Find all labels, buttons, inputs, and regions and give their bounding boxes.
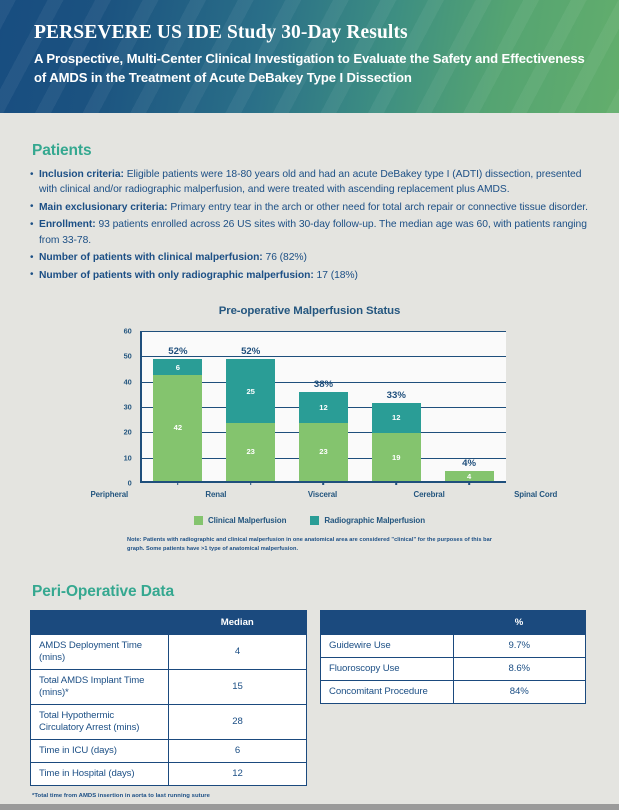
x-axis-label: Renal: [163, 490, 270, 499]
bar-segment-clinical: 4: [445, 471, 494, 481]
patients-bullet-item: Number of patients with clinical malperf…: [30, 250, 589, 265]
table-cell-label: AMDS Deployment Time (mins): [31, 634, 169, 669]
x-axis-label: Spinal Cord: [482, 490, 589, 499]
table-row: AMDS Deployment Time (mins)4: [31, 634, 307, 669]
peri-operative-median-table: Median AMDS Deployment Time (mins)4Total…: [30, 610, 307, 786]
bar-stack[interactable]: 4%4: [445, 471, 494, 481]
page-subtitle: A Prospective, Multi-Center Clinical Inv…: [34, 50, 587, 87]
table-header-median: Median: [169, 610, 307, 634]
table-row: Fluoroscopy Use8.6%: [321, 657, 586, 680]
page-title: PERSEVERE US IDE Study 30-Day Results: [34, 22, 587, 43]
bar-segment-radiographic: 12: [372, 403, 421, 433]
table-cell-label: Concomitant Procedure: [321, 680, 454, 703]
y-axis-tick: 0: [128, 479, 132, 488]
table-cell-value: 15: [169, 669, 307, 704]
legend-item[interactable]: Radiographic Malperfusion: [310, 516, 425, 525]
chart-title: Pre-operative Malperfusion Status: [30, 305, 589, 317]
bar-segment-clinical: 23: [226, 423, 275, 481]
bar-group[interactable]: 38%1223: [287, 331, 360, 481]
table-row: Time in Hospital (days)12: [31, 762, 307, 785]
bar-group[interactable]: 33%1219: [360, 331, 433, 481]
chart-note: Note: Patients with radiographic and cli…: [127, 536, 492, 554]
legend-label: Clinical Malperfusion: [208, 516, 286, 525]
patients-bullet-item: Enrollment: 93 patients enrolled across …: [30, 217, 589, 248]
table-cell-value: 6: [169, 739, 307, 762]
peri-operative-tables: Median AMDS Deployment Time (mins)4Total…: [30, 610, 589, 786]
bar-percent-label: 52%: [168, 346, 187, 357]
bullet-label: Enrollment:: [39, 219, 96, 230]
chart-plot-box: 52%64252%252338%122333%12194%4: [140, 331, 506, 483]
table-cell-value: 12: [169, 762, 307, 785]
legend-label: Radiographic Malperfusion: [324, 516, 425, 525]
table-header-percent: %: [453, 610, 586, 634]
bar-segment-clinical: 19: [372, 433, 421, 481]
patients-bullet-list: Inclusion criteria: Eligible patients we…: [30, 167, 589, 283]
chart-x-axis: PeripheralRenalVisceralCerebralSpinal Co…: [56, 490, 589, 499]
bullet-label: Main exclusionary criteria:: [39, 202, 168, 213]
bar-stack[interactable]: 38%1223: [299, 392, 348, 481]
patients-bullet-item: Main exclusionary criteria: Primary entr…: [30, 200, 589, 215]
bullet-text: Primary entry tear in the arch or other …: [168, 202, 588, 213]
content-area: Patients Inclusion criteria: Eligible pa…: [0, 142, 619, 799]
y-axis-tick: 40: [124, 377, 132, 386]
table-row: Total Hypothermic Circulatory Arrest (mi…: [31, 704, 307, 739]
bullet-text: 93 patients enrolled across 26 US sites …: [39, 219, 587, 245]
bar-segment-clinical: 42: [153, 375, 202, 481]
poster-page: PERSEVERE US IDE Study 30-Day Results A …: [0, 0, 619, 810]
bar-stack[interactable]: 52%642: [153, 359, 202, 481]
bullet-text: 76 (82%): [263, 252, 307, 263]
x-axis-label: Cerebral: [376, 490, 483, 499]
x-axis-label: Peripheral: [56, 490, 163, 499]
table-cell-value: 9.7%: [453, 634, 586, 657]
table-cell-label: Time in Hospital (days): [31, 762, 169, 785]
table-body: Guidewire Use9.7%Fluoroscopy Use8.6%Conc…: [321, 634, 586, 703]
x-axis-tick-mark: [177, 481, 179, 485]
bar-percent-label: 4%: [462, 458, 476, 469]
chart-legend: Clinical MalperfusionRadiographic Malper…: [30, 516, 589, 525]
x-axis-tick-mark: [250, 481, 252, 485]
bar-segment-clinical: 23: [299, 423, 348, 481]
peri-operative-footnote: *Total time from AMDS insertion in aorta…: [32, 793, 589, 799]
bar-group[interactable]: 52%642: [142, 331, 215, 481]
y-axis-tick: 60: [124, 327, 132, 336]
x-axis-tick-mark: [395, 481, 397, 485]
table-cell-value: 28: [169, 704, 307, 739]
chart-bars-layer: 52%64252%252338%122333%12194%4: [142, 331, 506, 481]
patients-heading: Patients: [32, 142, 589, 160]
table-row: Guidewire Use9.7%: [321, 634, 586, 657]
x-axis-tick-mark: [468, 481, 470, 485]
legend-item[interactable]: Clinical Malperfusion: [194, 516, 286, 525]
bar-stack[interactable]: 52%2523: [226, 359, 275, 481]
table-cell-label: Total Hypothermic Circulatory Arrest (mi…: [31, 704, 169, 739]
bar-segment-radiographic: 6: [153, 359, 202, 374]
table-cell-label: Guidewire Use: [321, 634, 454, 657]
bullet-label: Inclusion criteria:: [39, 169, 124, 180]
bar-percent-label: 52%: [241, 346, 260, 357]
y-axis-tick: 10: [124, 453, 132, 462]
bullet-label: Number of patients with clinical malperf…: [39, 252, 263, 263]
chart-plot-area: 0102030405060 52%64252%252338%122333%121…: [114, 331, 506, 483]
bullet-text: 17 (18%): [314, 270, 358, 281]
table-body: AMDS Deployment Time (mins)4Total AMDS I…: [31, 634, 307, 785]
table-cell-value: 84%: [453, 680, 586, 703]
table-cell-label: Fluoroscopy Use: [321, 657, 454, 680]
table-row: Concomitant Procedure84%: [321, 680, 586, 703]
table-header-row: %: [321, 610, 586, 634]
table-cell-value: 4: [169, 634, 307, 669]
bar-group[interactable]: 52%2523: [214, 331, 287, 481]
bullet-label: Number of patients with only radiographi…: [39, 270, 314, 281]
bar-stack[interactable]: 33%1219: [372, 403, 421, 482]
table-row: Time in ICU (days)6: [31, 739, 307, 762]
bar-group[interactable]: 4%4: [433, 331, 506, 481]
legend-swatch-icon: [310, 516, 319, 525]
bar-percent-label: 33%: [387, 390, 406, 401]
table-row: Total AMDS Implant Time (mins)*15: [31, 669, 307, 704]
patients-bullet-item: Number of patients with only radiographi…: [30, 268, 589, 283]
header-banner: PERSEVERE US IDE Study 30-Day Results A …: [0, 0, 619, 113]
table-header-blank: [321, 610, 454, 634]
table-cell-value: 8.6%: [453, 657, 586, 680]
patients-bullet-item: Inclusion criteria: Eligible patients we…: [30, 167, 589, 198]
bottom-edge-bar: [0, 804, 619, 810]
table-cell-label: Total AMDS Implant Time (mins)*: [31, 669, 169, 704]
table-cell-label: Time in ICU (days): [31, 739, 169, 762]
x-axis-tick-mark: [323, 481, 325, 485]
table-header-blank: [31, 610, 169, 634]
chart-y-axis: 0102030405060: [114, 331, 136, 483]
x-axis-label: Visceral: [269, 490, 376, 499]
malperfusion-chart: Pre-operative Malperfusion Status 010203…: [30, 305, 589, 554]
table-header-row: Median: [31, 610, 307, 634]
peri-operative-percent-table: % Guidewire Use9.7%Fluoroscopy Use8.6%Co…: [320, 610, 586, 704]
peri-operative-heading: Peri-Operative Data: [32, 583, 589, 601]
y-axis-tick: 30: [124, 403, 132, 412]
bar-segment-radiographic: 25: [226, 359, 275, 422]
bar-segment-radiographic: 12: [299, 392, 348, 422]
y-axis-tick: 20: [124, 428, 132, 437]
y-axis-tick: 50: [124, 352, 132, 361]
bar-percent-label: 38%: [314, 379, 333, 390]
legend-swatch-icon: [194, 516, 203, 525]
